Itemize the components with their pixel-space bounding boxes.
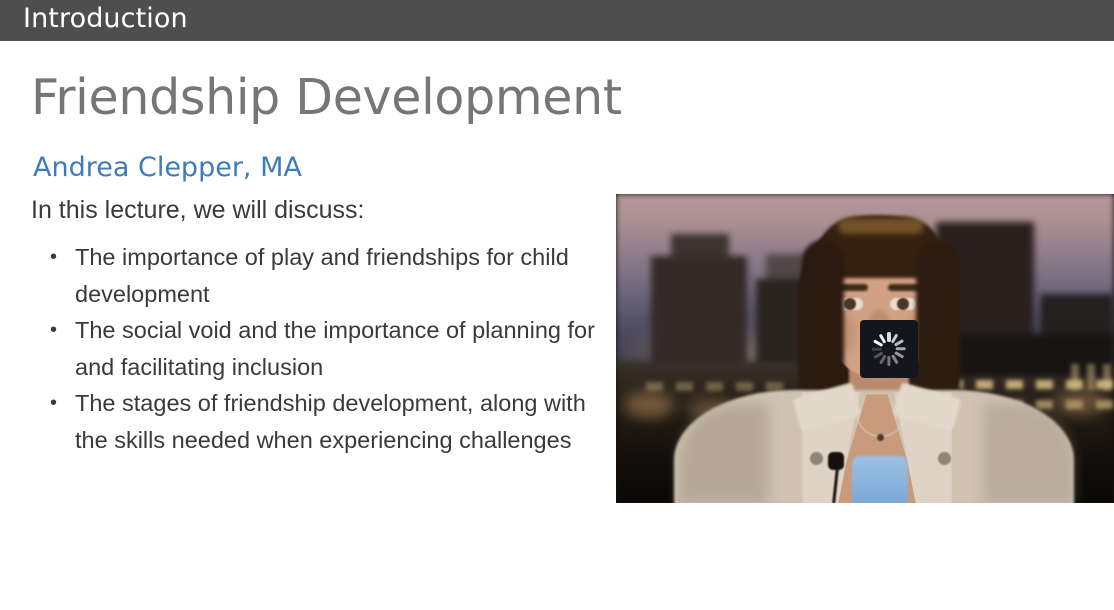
presenter-iris: [844, 298, 856, 310]
presenter-blue-top: [852, 456, 908, 503]
spinner-segment: [894, 339, 904, 347]
presenter-jacket-button: [810, 452, 823, 465]
list-item: • The social void and the importance of …: [47, 312, 607, 385]
presenter-name: Andrea Clepper, MA: [33, 152, 302, 183]
slide-header-bar: Introduction: [0, 0, 1114, 41]
video-loading-overlay: [860, 320, 918, 378]
presenter-jacket-shading: [678, 404, 768, 503]
list-item: • The importance of play and friendships…: [47, 239, 607, 312]
presenter-iris: [897, 298, 909, 310]
section-title: Introduction: [23, 3, 188, 34]
list-item-label: The social void and the importance of pl…: [75, 317, 595, 380]
spinner-segment: [872, 347, 882, 350]
bullet-icon: •: [50, 239, 57, 276]
presenter-hair-highlight: [838, 218, 924, 234]
lecture-intro-text: In this lecture, we will discuss:: [31, 196, 364, 225]
lecture-objectives-list: • The importance of play and friendships…: [47, 239, 607, 458]
spinner-segment: [896, 347, 906, 350]
presenter-jacket-button: [938, 452, 951, 465]
list-item-label: The stages of friendship development, al…: [75, 390, 586, 453]
slide-content: Friendship Development Andrea Clepper, M…: [0, 41, 1114, 610]
list-item-label: The importance of play and friendships f…: [75, 244, 569, 307]
loading-spinner-icon: [872, 332, 906, 366]
presenter-jacket-shading: [984, 404, 1074, 503]
bullet-icon: •: [50, 312, 57, 349]
spinner-segment: [887, 356, 890, 366]
bullet-icon: •: [50, 385, 57, 422]
page-title: Friendship Development: [31, 69, 622, 126]
presenter-necklace-pendant: [877, 434, 884, 441]
video-player[interactable]: [616, 194, 1114, 503]
list-item: • The stages of friendship development, …: [47, 385, 607, 458]
